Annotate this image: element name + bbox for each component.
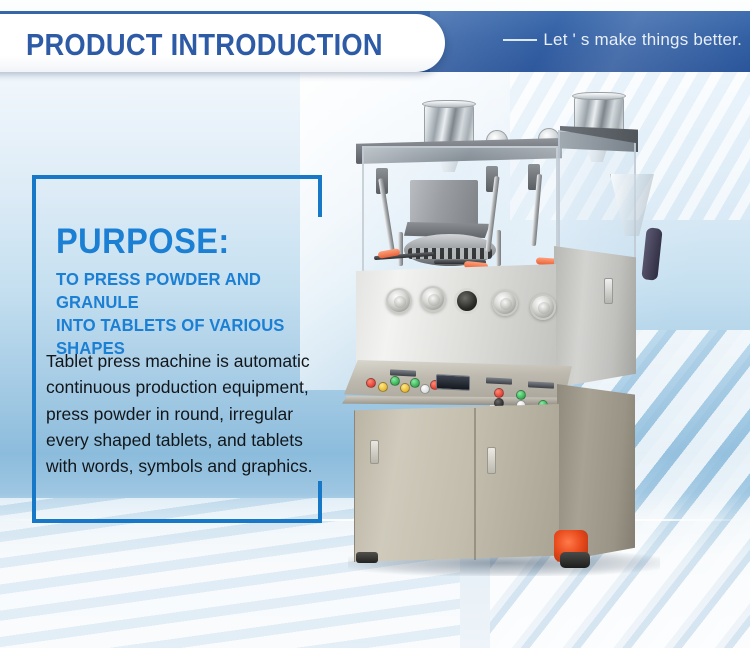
control-button-reset[interactable] (420, 384, 430, 394)
purpose-heading: PURPOSE: (56, 222, 230, 262)
adjustment-knob-3[interactable] (492, 290, 518, 316)
page-title: PRODUCT INTRODUCTION (26, 27, 383, 63)
control-button-stop-1[interactable] (366, 378, 376, 388)
purpose-subheading-line-1: TO PRESS POWDER AND GRANULE (56, 268, 322, 314)
control-button-caution-2[interactable] (400, 383, 410, 393)
control-button-stop-3[interactable] (494, 388, 504, 398)
side-panel-handle[interactable] (604, 278, 613, 304)
hopper-rim-left (422, 100, 476, 108)
em-dash-rule-icon (503, 39, 537, 41)
product-photo (338, 82, 668, 592)
machine-foot-left (356, 552, 378, 563)
frame-edge-top (32, 175, 322, 179)
hopper-rim-right (572, 92, 626, 100)
frame-corner-bottom-right (318, 481, 322, 523)
control-button-start-2[interactable] (410, 378, 420, 388)
control-button-start-1[interactable] (390, 376, 400, 386)
adjustment-knob-4[interactable] (530, 294, 556, 320)
stainless-steel-cabinet-front (354, 404, 559, 562)
cabinet-latch-right[interactable] (487, 447, 496, 474)
frame-edge-bottom (32, 519, 322, 523)
press-head-housing (410, 180, 478, 226)
control-button-caution-1[interactable] (378, 382, 388, 392)
header-tagline: Let ' s make things better. (503, 30, 742, 50)
frame-corner-top-right (318, 175, 322, 217)
panel-plate-center (486, 377, 512, 384)
cabinet-door-seam (474, 408, 476, 560)
purpose-subheading: TO PRESS POWDER AND GRANULE INTO TABLETS… (56, 268, 322, 360)
adjustment-knob-2[interactable] (420, 286, 446, 312)
description-paragraph: Tablet press machine is automatic contin… (46, 348, 336, 479)
frame-edge-left (32, 175, 36, 523)
discharge-hose (641, 227, 662, 280)
caster-tyre (560, 552, 590, 568)
cabinet-latch-left[interactable] (370, 440, 379, 464)
header-tagline-text: Let ' s make things better. (543, 30, 742, 49)
digital-display (436, 374, 470, 391)
adjustment-knob-1[interactable] (386, 288, 412, 314)
panel-plate-right (528, 381, 554, 388)
control-button-start-3[interactable] (516, 390, 526, 400)
press-column-right (496, 230, 501, 266)
inspection-port (454, 288, 480, 314)
page-header: PRODUCT INTRODUCTION Let ' s make things… (0, 0, 750, 88)
